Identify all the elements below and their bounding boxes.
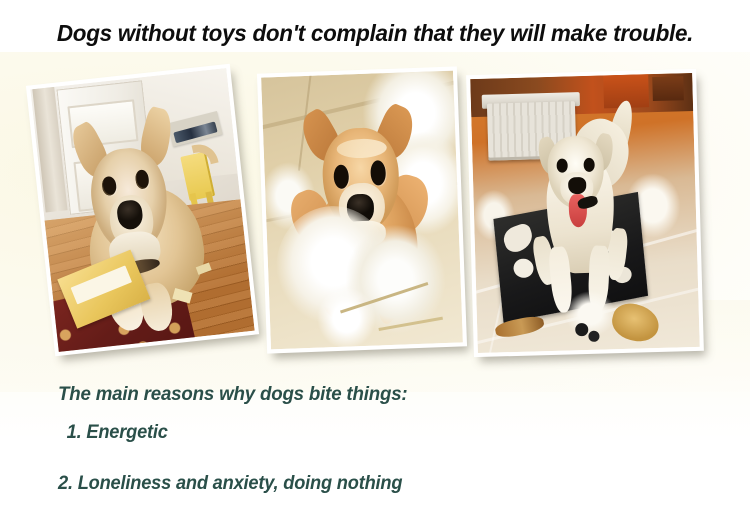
puppy-eye-right (370, 160, 386, 185)
page-title: Dogs without toys don't complain that th… (17, 20, 733, 47)
photo-puppy-frame (261, 71, 463, 350)
caption-reason-1: 1. Energetic (58, 422, 596, 444)
photo-terrier-frame (30, 68, 254, 352)
photo-puppy-in-stuffing (257, 66, 467, 353)
slide-canvas: Dogs without toys don't complain that th… (0, 0, 750, 510)
photo-lab-frame (470, 73, 700, 353)
debris-scrap-d (588, 330, 599, 341)
caption-block: The main reasons why dogs bite things: 1… (58, 383, 596, 495)
caption-heading: The main reasons why dogs bite things: (58, 383, 596, 406)
cabinet-b (652, 76, 684, 102)
photo-lab-on-torn-mat (466, 69, 704, 357)
caption-reason-2: 2. Loneliness and anxiety, doing nothing (58, 473, 596, 495)
photo-terrier-on-rug (26, 64, 259, 357)
